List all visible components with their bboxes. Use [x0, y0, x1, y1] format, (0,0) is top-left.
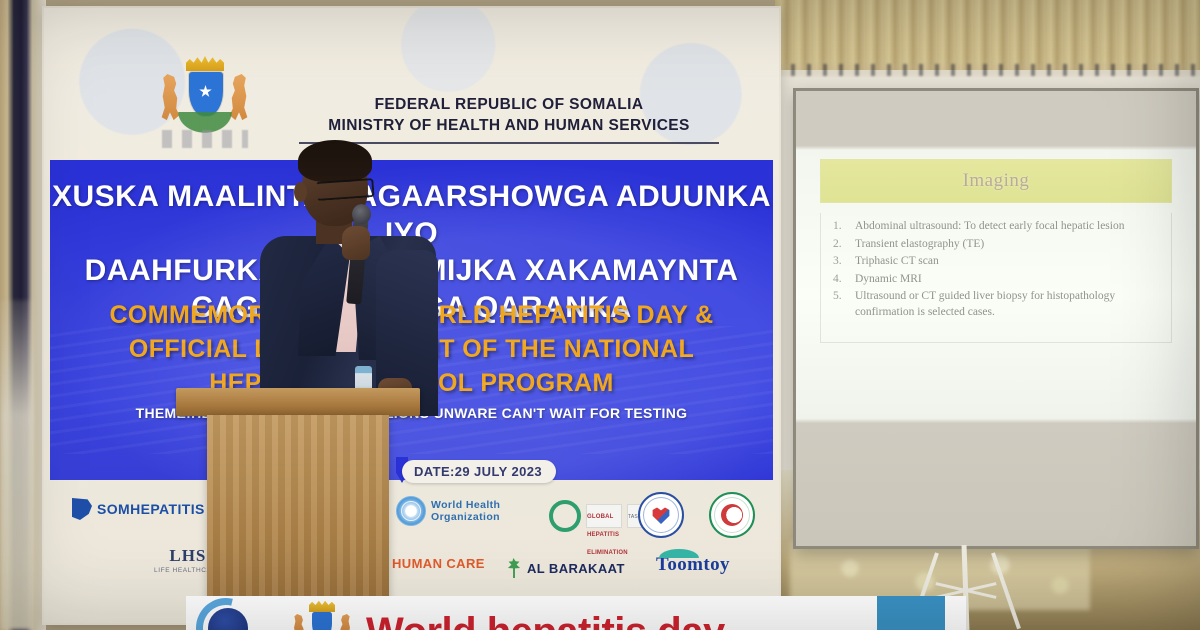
photo-scene: Imaging 1.Abdominal ultrasound: To detec…: [0, 0, 1200, 630]
overlay-shield-icon: [312, 612, 332, 630]
slide-bullet-item: 2.Transient elastography (TE): [825, 237, 1167, 253]
slide-bullet-number: 3.: [833, 254, 842, 270]
slide-bullet-item: 4.Dynamic MRI: [825, 272, 1167, 288]
slide-bullet-text: Triphasic CT scan: [855, 255, 939, 267]
slide-bullet-text: Abdominal ultrasound: To detect early fo…: [855, 220, 1124, 232]
logo-toomtoy: Toomtoy: [656, 554, 730, 576]
logo-human-care-label: HUMAN CARE: [392, 556, 485, 571]
projection-screen: Imaging 1.Abdominal ultrasound: To detec…: [793, 88, 1199, 549]
logo-al-barakaat: AL BARAKAAT: [506, 558, 625, 578]
overlay-crown-icon: [309, 600, 335, 612]
red-crescent-icon: [709, 492, 755, 538]
presentation-slide: Imaging 1.Abdominal ultrasound: To detec…: [806, 153, 1186, 408]
logo-somali-red-crescent: [709, 492, 755, 538]
overlay-leopard-left-icon: [291, 614, 308, 630]
logo-somhepatitis-label: SOMHEPATITIS: [97, 501, 205, 517]
glasses-icon: [315, 178, 374, 201]
slide-bullet-text: Ultrasound or CT guided liver biopsy for…: [855, 290, 1115, 318]
speaker-ear: [294, 182, 307, 202]
overlay-blue-block: [877, 596, 945, 630]
ceiling-garland: [775, 0, 1200, 70]
banner-date: DATE:29 JULY 2023: [402, 460, 556, 483]
logo-ministry-of-health-seal: [638, 492, 684, 538]
speaker-hair: [298, 140, 372, 182]
logo-global-hepatitis-block: GLOBAL HEPATITIS ELIMINATION: [586, 504, 622, 528]
speaker-person: [258, 140, 448, 402]
banner-header: FEDERAL REPUBLIC OF SOMALIA MINISTRY OF …: [44, 8, 779, 146]
left-flower-decor: [0, 300, 34, 630]
somali-coat-of-arms-icon: [152, 56, 257, 148]
overlay-coat-of-arms-icon: [291, 600, 353, 630]
slide-bullet-item: 3.Triphasic CT scan: [825, 254, 1167, 270]
who-globe-icon: [396, 496, 426, 526]
logo-human-care: HUMAN CARE: [392, 556, 485, 571]
slide-bullet-list: 1.Abdominal ultrasound: To detect early …: [825, 219, 1167, 320]
country-name: FEDERAL REPUBLIC OF SOMALIA: [299, 94, 719, 115]
logo-global-hepatitis-label: GLOBAL HEPATITIS ELIMINATION: [587, 511, 628, 556]
ministry-name: MINISTRY OF HEALTH AND HUMAN SERVICES: [299, 115, 719, 136]
logo-world-health-organization: World Health Organization: [396, 496, 500, 526]
green-ring-icon: [549, 500, 581, 532]
slide-bullet-text: Transient elastography (TE): [855, 238, 984, 250]
podium-top: [176, 388, 420, 416]
slide-bullet-number: 4.: [833, 272, 842, 288]
logo-somhepatitis: SOMHEPATITIS: [72, 498, 205, 520]
slide-title: Imaging: [963, 170, 1030, 192]
overlay-title: World hepatitis day: [366, 610, 725, 630]
slide-bullet-number: 5.: [833, 289, 842, 305]
slide-bullet-number: 2.: [833, 237, 842, 253]
overlay-leopard-right-icon: [336, 614, 353, 630]
al-barakaat-tree-icon: [506, 558, 522, 578]
somhepatitis-mark-icon: [72, 498, 92, 520]
bottom-overlay-banner: World hepatitis day: [186, 596, 966, 630]
ministry-heading: FEDERAL REPUBLIC OF SOMALIA MINISTRY OF …: [299, 94, 719, 136]
logo-who-label: World Health Organization: [431, 499, 500, 523]
moh-seal-icon: [638, 492, 684, 538]
crown-icon: [186, 56, 224, 71]
logo-al-barakaat-label: AL BARAKAAT: [527, 561, 625, 576]
waves-icon: [162, 130, 248, 148]
slide-title-band: Imaging: [820, 159, 1172, 203]
slide-bullet-item: 5.Ultrasound or CT guided liver biopsy f…: [825, 289, 1167, 320]
slide-bullet-item: 1.Abdominal ultrasound: To detect early …: [825, 219, 1167, 235]
slide-body: 1.Abdominal ultrasound: To detect early …: [820, 213, 1172, 343]
toomtoy-swoosh-icon: [659, 549, 699, 558]
slide-bullet-number: 1.: [833, 219, 842, 235]
speaker-hand-holding-mic: [342, 226, 370, 260]
slide-bullet-text: Dynamic MRI: [855, 273, 922, 285]
